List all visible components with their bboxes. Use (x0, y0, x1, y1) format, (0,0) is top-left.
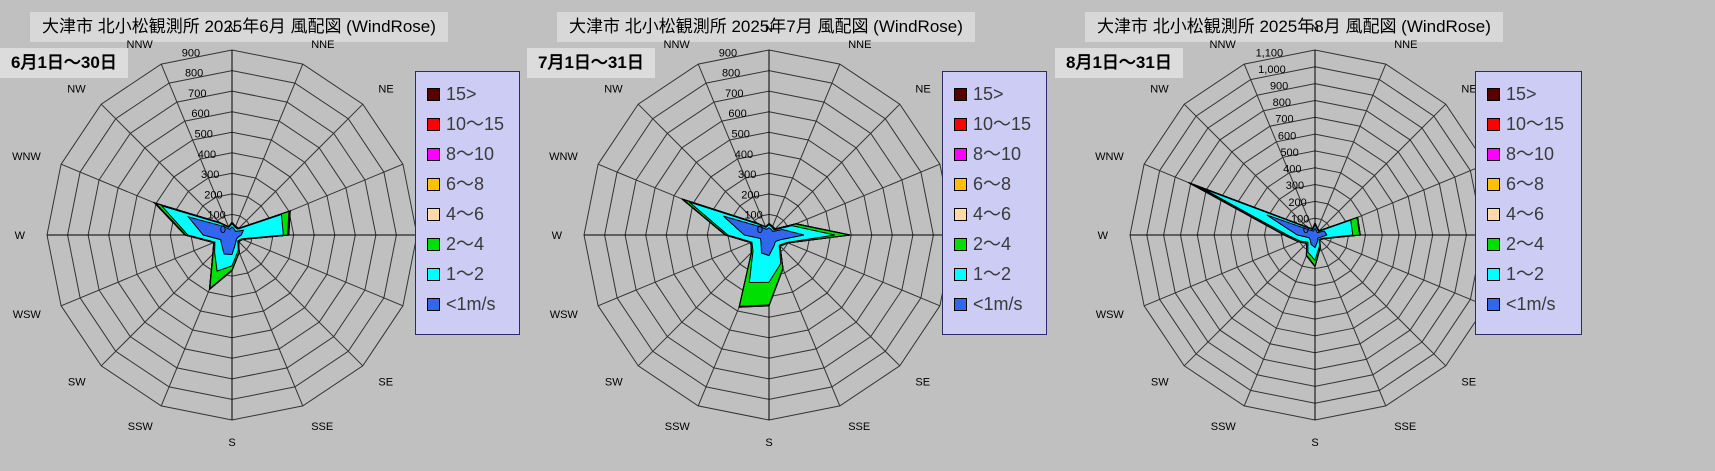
legend-item[interactable]: 2～4 (1487, 229, 1572, 259)
legend-item[interactable]: 8～10 (427, 139, 510, 169)
radial-tick-100: 100 (207, 210, 225, 222)
legend-item[interactable]: 4～6 (1487, 199, 1572, 229)
legend-label: 4～6 (446, 205, 484, 223)
radial-tick-400: 400 (1283, 164, 1301, 176)
direction-label-NE: NE (378, 84, 393, 96)
legend-item[interactable]: 1～2 (427, 259, 510, 289)
grid-spoke (1144, 235, 1315, 306)
grid-spoke (769, 64, 840, 235)
legend-item[interactable]: 6～8 (954, 169, 1037, 199)
radial-tick-500: 500 (1280, 147, 1298, 159)
legend-swatch-icon (427, 148, 440, 161)
rose-container: NNNENEENEEESESESSESSSWSWWSWWWNWNWNNW0100… (537, 0, 1007, 471)
legend-item[interactable]: 15> (427, 79, 510, 109)
direction-label-N: N (765, 23, 773, 35)
grid-spoke (232, 104, 363, 235)
direction-label-SE: SE (1461, 376, 1476, 388)
radial-tick-200: 200 (1288, 197, 1306, 209)
legend-label: <1m/s (973, 295, 1023, 313)
radial-tick-0: 0 (757, 224, 763, 236)
legend-swatch-icon (954, 298, 967, 311)
direction-label-SW: SW (68, 376, 86, 388)
legend-label: 6～8 (973, 175, 1011, 193)
direction-label-NNE: NNE (1394, 39, 1417, 51)
direction-label-NNW: NNW (1210, 39, 1237, 51)
legend-swatch-icon (954, 208, 967, 221)
radial-tick-400: 400 (198, 149, 216, 161)
direction-label-WSW: WSW (13, 309, 42, 321)
legend-swatch-icon (427, 118, 440, 131)
radial-tick-500: 500 (732, 129, 750, 141)
radial-tick-400: 400 (735, 149, 753, 161)
radial-tick-800: 800 (722, 68, 740, 80)
legend-swatch-icon (954, 178, 967, 191)
legend-swatch-icon (1487, 178, 1500, 191)
direction-label-NW: NW (1150, 84, 1169, 96)
legend-swatch-icon (954, 268, 967, 281)
radial-tick-700: 700 (188, 88, 206, 100)
legend-label: 4～6 (973, 205, 1011, 223)
legend-swatch-icon (1487, 118, 1500, 131)
legend-item[interactable]: <1m/s (954, 289, 1037, 319)
legend-label: 2～4 (446, 235, 484, 253)
grid-spoke (1315, 64, 1386, 235)
legend-item[interactable]: 6～8 (427, 169, 510, 199)
legend-label: 6～8 (1506, 175, 1544, 193)
legend-swatch-icon (427, 298, 440, 311)
legend-swatch-icon (427, 208, 440, 221)
rose-container: NNNENEENEEESESESSESSSWSWWSWWWNWNWNNW0100… (0, 0, 470, 471)
legend: 15>10～158～106～84～62～41～2<1m/s (415, 71, 520, 335)
direction-label-WNW: WNW (12, 151, 41, 163)
radial-tick-0: 0 (1303, 224, 1309, 236)
radial-tick-0: 0 (220, 224, 226, 236)
radial-tick-300: 300 (201, 169, 219, 181)
legend-label: 8～10 (1506, 145, 1554, 163)
wind-rose-chart: NNNENEENEEESESESSESSSWSWWSWWWNWNWNNW0100… (0, 0, 470, 471)
direction-label-SW: SW (605, 376, 623, 388)
legend-item[interactable]: 2～4 (427, 229, 510, 259)
legend-label: 15> (446, 85, 477, 103)
legend-swatch-icon (1487, 238, 1500, 251)
legend-swatch-icon (427, 268, 440, 281)
radial-tick-1,000: 1,000 (1258, 64, 1286, 76)
legend-label: 10～15 (1506, 115, 1564, 133)
legend-swatch-icon (1487, 268, 1500, 281)
legend-label: 15> (973, 85, 1004, 103)
direction-label-NW: NW (604, 84, 623, 96)
legend-swatch-icon (427, 238, 440, 251)
grid-spoke (1315, 235, 1446, 366)
direction-label-NNW: NNW (127, 39, 154, 51)
direction-label-NNE: NNE (311, 39, 334, 51)
direction-label-WNW: WNW (1095, 151, 1124, 163)
legend-item[interactable]: 10～15 (427, 109, 510, 139)
legend-swatch-icon (954, 238, 967, 251)
grid-spoke (769, 235, 900, 366)
radial-tick-200: 200 (741, 189, 759, 201)
legend-label: 8～10 (973, 145, 1021, 163)
legend-label: <1m/s (1506, 295, 1556, 313)
legend-label: 4～6 (1506, 205, 1544, 223)
grid-spoke (1184, 235, 1315, 366)
direction-label-WSW: WSW (550, 309, 579, 321)
radial-tick-200: 200 (204, 189, 222, 201)
radial-tick-1,100: 1,100 (1256, 47, 1284, 59)
legend-label: 1～2 (446, 265, 484, 283)
radial-tick-900: 900 (719, 47, 737, 59)
legend-swatch-icon (1487, 88, 1500, 101)
grid-spoke (232, 235, 303, 406)
legend-label: 15> (1506, 85, 1537, 103)
direction-label-SE: SE (378, 376, 393, 388)
legend-item[interactable]: <1m/s (427, 289, 510, 319)
grid-spoke (1244, 235, 1315, 406)
legend-item[interactable]: <1m/s (1487, 289, 1572, 319)
direction-label-S: S (765, 437, 772, 449)
legend: 15>10～158～106～84～62～41～2<1m/s (942, 71, 1047, 335)
direction-label-NNE: NNE (848, 39, 871, 51)
legend-item[interactable]: 1～2 (954, 259, 1037, 289)
legend-swatch-icon (954, 118, 967, 131)
direction-label-SSE: SSE (848, 421, 870, 433)
legend-label: 1～2 (1506, 265, 1544, 283)
direction-label-SSW: SSW (665, 421, 691, 433)
wind-band-1～2 (1203, 189, 1353, 261)
grid-spoke (61, 235, 232, 306)
radial-tick-800: 800 (185, 68, 203, 80)
grid-spoke (232, 235, 403, 306)
radial-tick-500: 500 (195, 129, 213, 141)
legend-label: 2～4 (1506, 235, 1544, 253)
legend-swatch-icon (1487, 148, 1500, 161)
direction-label-SSW: SSW (128, 421, 154, 433)
direction-label-SW: SW (1151, 376, 1169, 388)
direction-label-W: W (552, 230, 563, 242)
wind-rose-chart: NNNENEENEEESESESSESSSWSWWSWWWNWNWNNW0100… (537, 0, 1007, 471)
grid-spoke (769, 104, 900, 235)
radial-tick-300: 300 (1286, 180, 1304, 192)
direction-label-SSE: SSE (1394, 421, 1416, 433)
direction-label-SSE: SSE (311, 421, 333, 433)
direction-label-NNW: NNW (664, 39, 691, 51)
direction-label-S: S (1311, 437, 1318, 449)
legend-item[interactable]: 1～2 (1487, 259, 1572, 289)
legend-item[interactable]: 15> (1487, 79, 1572, 109)
legend-item[interactable]: 4～6 (954, 199, 1037, 229)
grid-spoke (1315, 104, 1446, 235)
radial-tick-900: 900 (182, 47, 200, 59)
radial-tick-800: 800 (1273, 97, 1291, 109)
direction-label-SSW: SSW (1211, 421, 1237, 433)
direction-label-SE: SE (915, 376, 930, 388)
direction-label-S: S (228, 437, 235, 449)
grid-spoke (232, 64, 303, 235)
direction-label-WNW: WNW (549, 151, 578, 163)
legend-label: 1～2 (973, 265, 1011, 283)
legend-item[interactable]: 10～15 (1487, 109, 1572, 139)
direction-label-NW: NW (67, 84, 86, 96)
legend-swatch-icon (1487, 298, 1500, 311)
radial-tick-700: 700 (725, 88, 743, 100)
wind-rose-panel-2: 大津市 北小松観測所 2025年7月 風配図 (WindRose)7月1日～31… (527, 0, 1098, 471)
legend-swatch-icon (954, 88, 967, 101)
legend-swatch-icon (1487, 208, 1500, 221)
direction-label-N: N (228, 23, 236, 35)
radial-tick-600: 600 (1278, 130, 1296, 142)
legend-label: <1m/s (446, 295, 496, 313)
legend-swatch-icon (427, 178, 440, 191)
legend-label: 10～15 (446, 115, 504, 133)
legend-item[interactable]: 10～15 (954, 109, 1037, 139)
direction-label-W: W (1098, 230, 1109, 242)
radial-tick-700: 700 (1275, 114, 1293, 126)
legend: 15>10～158～106～84～62～41～2<1m/s (1475, 71, 1582, 335)
direction-label-WSW: WSW (1096, 309, 1125, 321)
grid-spoke (1315, 235, 1386, 406)
legend-item[interactable]: 4～6 (427, 199, 510, 229)
grid-spoke (232, 235, 363, 366)
legend-item[interactable]: 8～10 (954, 139, 1037, 169)
direction-label-W: W (15, 230, 26, 242)
radial-tick-900: 900 (1270, 81, 1288, 93)
legend-label: 8～10 (446, 145, 494, 163)
radial-tick-600: 600 (191, 108, 209, 120)
legend-item[interactable]: 8～10 (1487, 139, 1572, 169)
radial-tick-600: 600 (728, 108, 746, 120)
radial-tick-300: 300 (738, 169, 756, 181)
legend-label: 10～15 (973, 115, 1031, 133)
legend-swatch-icon (954, 148, 967, 161)
radial-tick-100: 100 (1291, 213, 1309, 225)
legend-item[interactable]: 6～8 (1487, 169, 1572, 199)
legend-item[interactable]: 2～4 (954, 229, 1037, 259)
legend-label: 6～8 (446, 175, 484, 193)
wind-rose-panel-1: 大津市 北小松観測所 2025年6月 風配図 (WindRose)6月1日～30… (0, 0, 571, 471)
wind-rose-panel-3: 大津市 北小松観測所 2025年8月 風配図 (WindRose)8月1日～31… (1055, 0, 1626, 471)
direction-label-N: N (1311, 23, 1319, 35)
grid-spoke (1315, 235, 1486, 306)
grid-spoke (769, 235, 940, 306)
radial-tick-100: 100 (744, 210, 762, 222)
legend-swatch-icon (427, 88, 440, 101)
direction-label-NE: NE (915, 84, 930, 96)
legend-label: 2～4 (973, 235, 1011, 253)
legend-item[interactable]: 15> (954, 79, 1037, 109)
